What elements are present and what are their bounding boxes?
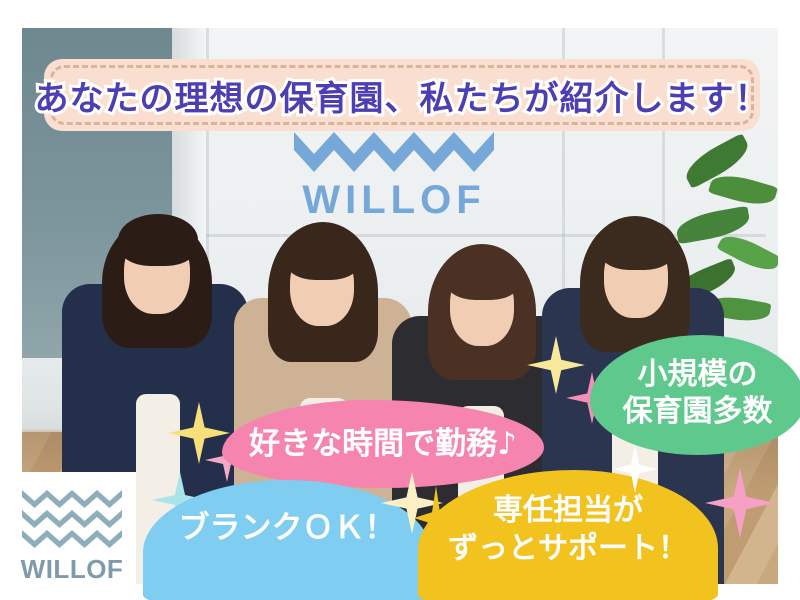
bubble-blank-ok-text: ブランクＯＫ！ [179, 509, 396, 548]
willof-logo-card: WILLOF [8, 472, 136, 600]
headline-banner: あなたの理想の保育園、私たちが紹介します！ [44, 59, 760, 131]
bubble-dedicated-support-line2: ずっとサポート！ [448, 530, 688, 568]
bubble-small-nursery-line1: 小規模の [623, 356, 773, 394]
promo-image: WILLOF [0, 0, 800, 600]
headline-text: あなたの理想の保育園、私たちが紹介します！ [35, 71, 770, 120]
bubble-dedicated-support-line1: 専任担当が [448, 492, 688, 530]
willof-zigzag-icon [22, 488, 122, 548]
bubble-small-nursery-line2: 保育園多数 [623, 393, 773, 431]
bubble-flexible-hours-text: 好きな時間で勤務♪ [249, 425, 517, 464]
willof-brand-word: WILLOF [21, 554, 124, 585]
